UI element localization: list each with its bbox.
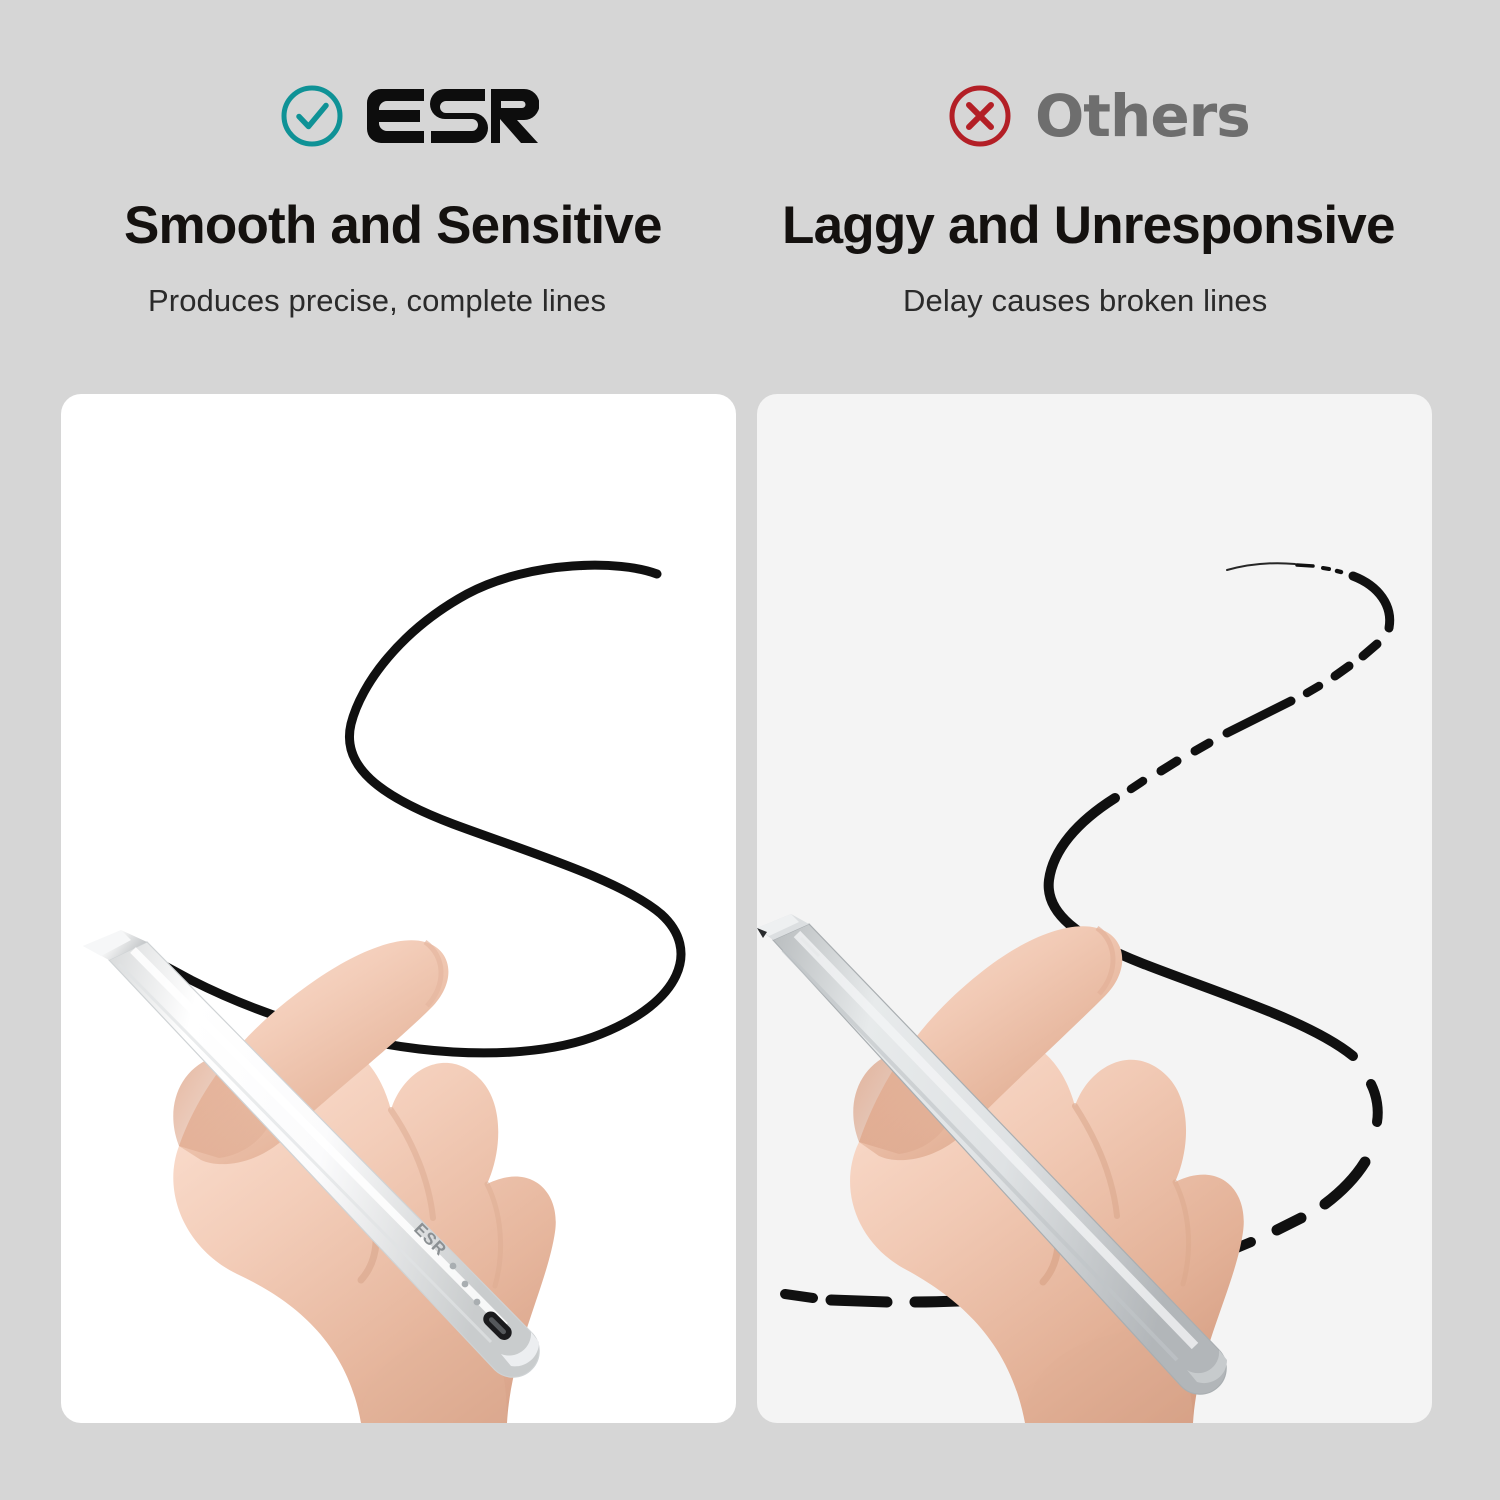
esr-drawing-scene: ESR [61, 394, 736, 1423]
page-subtitle-others: Delay causes broken lines [903, 283, 1267, 319]
comparison-infographic: Smooth and Sensitive Produces precise, c… [0, 0, 1500, 1500]
circle-check-icon [279, 83, 345, 149]
esr-demo-card: ESR [61, 394, 736, 1423]
circle-x-icon [947, 83, 1013, 149]
stylus-led-dot [450, 1263, 457, 1270]
stylus-led-dot [462, 1281, 469, 1288]
others-demo-card [757, 394, 1432, 1423]
esr-badge-row [279, 83, 539, 149]
others-label: Others [1035, 87, 1250, 145]
page-title-others: Laggy and Unresponsive [782, 196, 1395, 255]
stylus-led-dot [474, 1299, 481, 1306]
page-title-esr: Smooth and Sensitive [124, 196, 662, 255]
page-subtitle-esr: Produces precise, complete lines [148, 283, 606, 319]
others-drawing-scene [757, 394, 1432, 1423]
esr-logo [367, 89, 539, 143]
others-badge-row: Others [947, 83, 1250, 149]
